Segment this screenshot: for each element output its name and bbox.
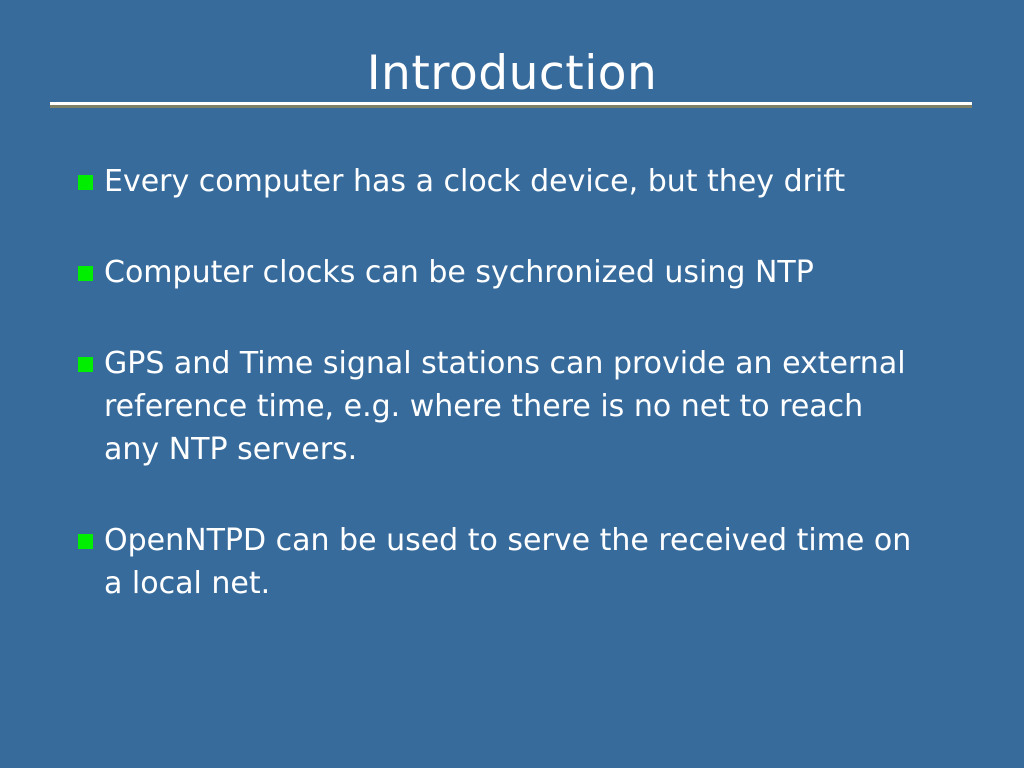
list-item-line: reference time, e.g. where there is no n… <box>104 385 958 428</box>
list-item-text: GPS and Time signal stations can provide… <box>104 342 958 471</box>
square-bullet-icon <box>78 534 93 549</box>
title-divider-rule <box>50 102 972 108</box>
list-item-text: Every computer has a clock device, but t… <box>104 160 958 203</box>
list-item: GPS and Time signal stations can provide… <box>78 342 958 471</box>
list-item-line: any NTP servers. <box>104 428 958 471</box>
list-item: Every computer has a clock device, but t… <box>78 160 958 203</box>
list-item: OpenNTPD can be used to serve the receiv… <box>78 519 958 605</box>
list-item-line: GPS and Time signal stations can provide… <box>104 342 958 385</box>
slide-title-block: Introduction <box>0 48 1024 100</box>
square-bullet-icon <box>78 266 93 281</box>
bullet-list: Every computer has a clock device, but t… <box>78 160 958 605</box>
list-item: Computer clocks can be sychronized using… <box>78 251 958 294</box>
list-item-text: OpenNTPD can be used to serve the receiv… <box>104 519 958 605</box>
list-item-line: a local net. <box>104 562 958 605</box>
list-item-text: Computer clocks can be sychronized using… <box>104 251 958 294</box>
list-item-line: OpenNTPD can be used to serve the receiv… <box>104 519 958 562</box>
square-bullet-icon <box>78 357 93 372</box>
list-item-line: Computer clocks can be sychronized using… <box>104 251 958 294</box>
square-bullet-icon <box>78 175 93 190</box>
list-item-line: Every computer has a clock device, but t… <box>104 160 958 203</box>
divider-shadow-line <box>50 105 972 108</box>
page-title: Introduction <box>367 48 658 100</box>
presentation-slide: Introduction Every computer has a clock … <box>0 0 1024 768</box>
